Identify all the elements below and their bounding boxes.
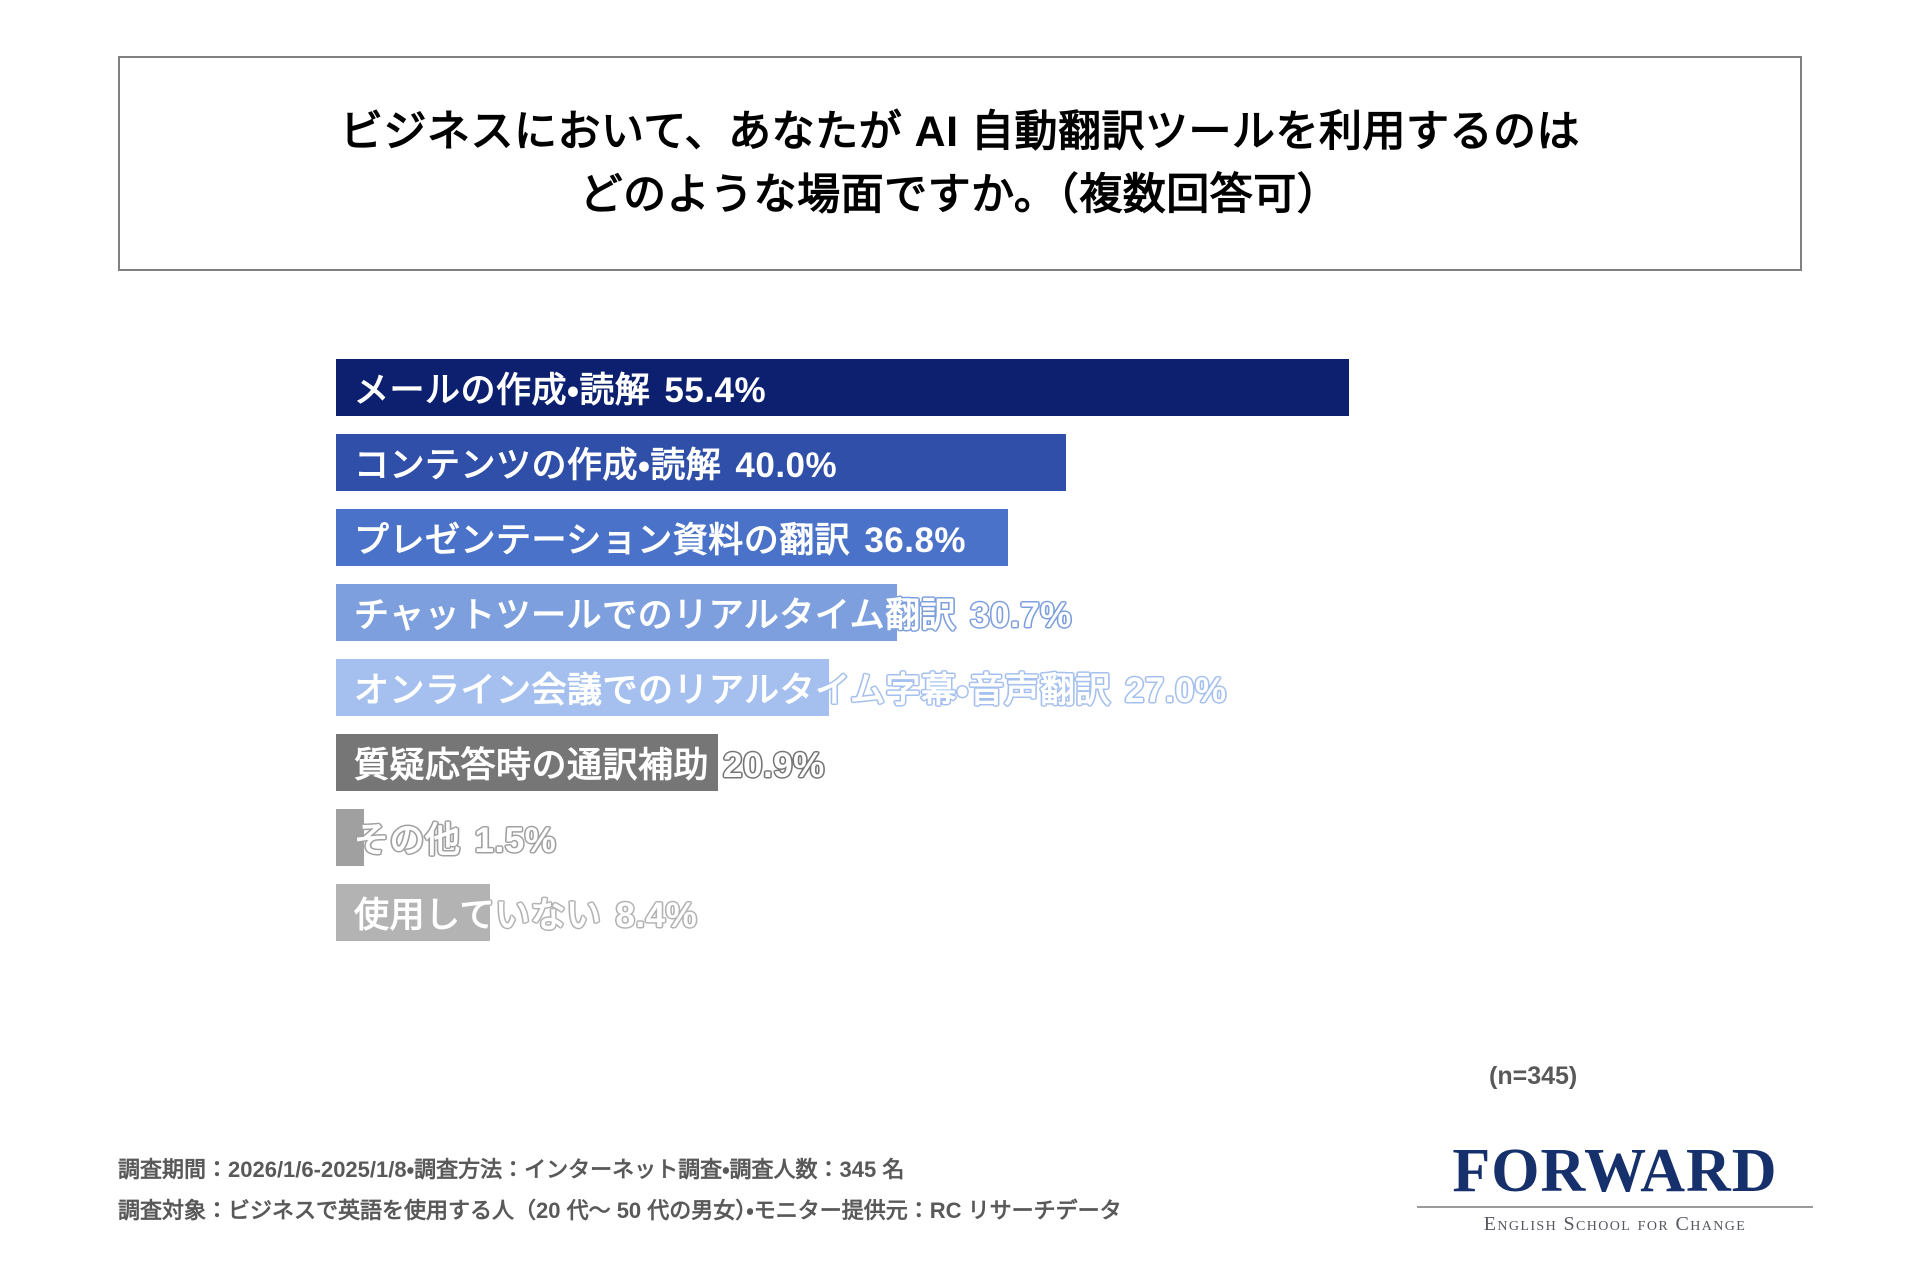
bar-category-text: その他 (354, 821, 461, 860)
bar-value-text: 1.5% (475, 821, 557, 860)
logo-divider (1417, 1206, 1813, 1208)
bar-label: メールの作成・読解55.4% (336, 362, 766, 413)
footer-line-period: 調査期間：2026/1/6-2025/1/8・調査方法：インターネット調査・調査… (118, 1150, 1268, 1191)
survey-method-footer: 調査期間：2026/1/6-2025/1/8・調査方法：インターネット調査・調査… (118, 1150, 1268, 1231)
bar-label: その他1.5% (336, 812, 556, 863)
logo-wordmark: FORWARD (1415, 1140, 1815, 1202)
bar-value-text: 20.9% (723, 746, 825, 785)
horizontal-bar-chart: メールの作成・読解55.4%コンテンツの作成・読解40.0%プレゼンテーション資… (0, 340, 1920, 960)
bar-label: 使用していない8.4% (336, 887, 697, 938)
bar-row: コンテンツの作成・読解40.0% (336, 434, 837, 491)
page-title-line-1: ビジネスにおいて、あなたが AI 自動翻訳ツールを利用するのは (340, 101, 1580, 163)
logo-tagline: English School for Change (1415, 1214, 1815, 1234)
bar-category-text: プレゼンテーション資料の翻訳 (354, 521, 850, 560)
footer-line-target: 調査対象：ビジネスで英語を使用する人（20 代〜 50 代の男女）・モニター提供… (118, 1191, 1268, 1232)
bar-category-text: チャットツールでのリアルタイム翻訳 (354, 596, 956, 635)
bar-value-text: 8.4% (615, 896, 697, 935)
bar-value-text: 36.8% (864, 521, 966, 560)
bar-label: プレゼンテーション資料の翻訳36.8% (336, 512, 966, 563)
page-title-line-2: どのような場面ですか。（複数回答可） (580, 164, 1341, 226)
bar-label: コンテンツの作成・読解40.0% (336, 437, 837, 488)
bar-label: 質疑応答時の通訳補助20.9% (336, 737, 825, 788)
bar-category-text: オンライン会議でのリアルタイム字幕・音声翻訳 (354, 671, 1111, 710)
bar-row: メールの作成・読解55.4% (336, 359, 766, 416)
bar-row: チャットツールでのリアルタイム翻訳30.7% (336, 584, 1072, 641)
forward-logo: FORWARD English School for Change (1415, 1140, 1815, 1234)
bar-row: 質疑応答時の通訳補助20.9% (336, 734, 825, 791)
bar-label: オンライン会議でのリアルタイム字幕・音声翻訳27.0% (336, 662, 1227, 713)
bar-row: オンライン会議でのリアルタイム字幕・音声翻訳27.0% (336, 659, 1227, 716)
bar-label: チャットツールでのリアルタイム翻訳30.7% (336, 587, 1072, 638)
bar-row: その他1.5% (336, 809, 556, 866)
bar-row: 使用していない8.4% (336, 884, 697, 941)
bar-value-text: 30.7% (970, 596, 1072, 635)
bar-value-text: 55.4% (664, 371, 766, 410)
bar-category-text: 質疑応答時の通訳補助 (354, 746, 709, 785)
bar-value-text: 40.0% (735, 446, 837, 485)
bar-value-text: 27.0% (1125, 671, 1227, 710)
bar-category-text: コンテンツの作成・読解 (354, 446, 721, 485)
bar-category-text: メールの作成・読解 (354, 371, 650, 410)
bar-row: プレゼンテーション資料の翻訳36.8% (336, 509, 966, 566)
chart-title-box: ビジネスにおいて、あなたが AI 自動翻訳ツールを利用するのは どのような場面で… (118, 56, 1802, 271)
sample-size-note: (n=345) (1489, 1062, 1577, 1091)
bar-category-text: 使用していない (354, 896, 601, 935)
